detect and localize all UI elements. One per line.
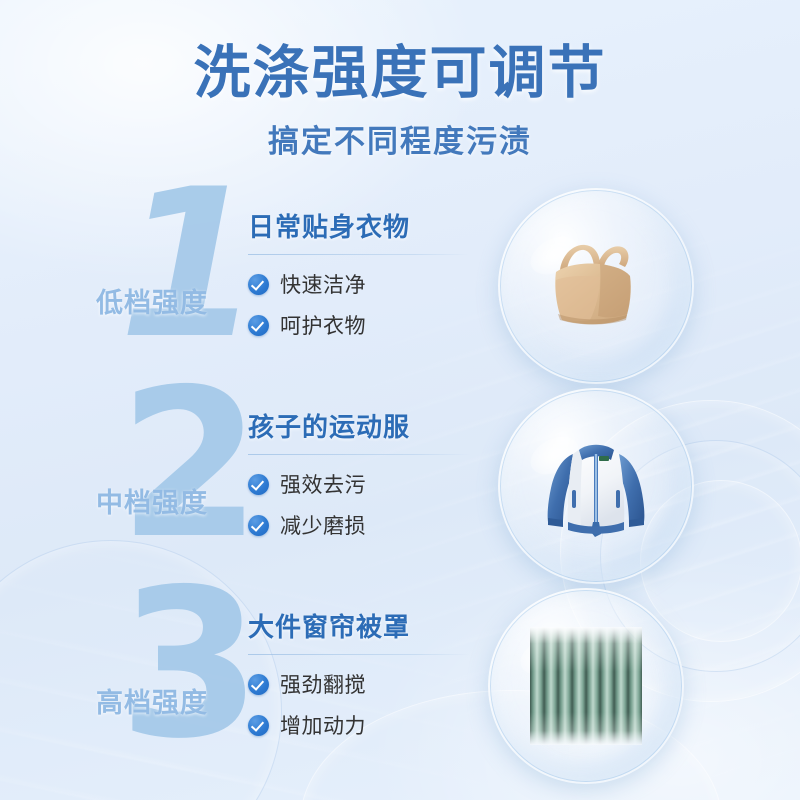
level-category-title-3: 大件窗帘被罩 [248,607,473,644]
feature-label: 减少磨损 [280,510,366,540]
product-bubble-1 [498,188,694,384]
check-circle-icon [248,274,269,295]
curtain-image [530,627,642,745]
level-text-column-1: 日常贴身衣物 快速洁净 呵护衣物 [248,207,473,351]
feature-item: 增加动力 [248,710,473,740]
level-grade-label-3: 高档强度 [96,681,248,720]
product-bubble-3 [488,588,684,784]
level-grade-label-2: 中档强度 [96,481,248,520]
feature-list-3: 强劲翻搅 增加动力 [248,669,473,740]
feature-item: 强劲翻搅 [248,669,473,699]
check-circle-icon [248,315,269,336]
feature-label: 增加动力 [280,710,366,740]
level-grade-label-1: 低档强度 [96,281,248,320]
feature-item: 减少磨损 [248,510,473,540]
page-title: 洗涤强度可调节 [0,44,800,104]
feature-item: 快速洁净 [248,269,473,299]
promo-poster: 洗涤强度可调节 搞定不同程度污渍 1 低档强度 日常贴身衣物 快速洁净 呵护衣物… [0,0,800,800]
check-circle-icon [248,474,269,495]
bubble-highlight [515,629,576,682]
feature-list-2: 强效去污 减少磨损 [248,469,473,540]
feature-label: 快速洁净 [280,269,366,299]
sports-bra-image [538,236,654,336]
divider-2 [248,454,470,455]
poster-header: 洗涤强度可调节 搞定不同程度污渍 [0,44,800,161]
product-bubble-2 [498,388,694,584]
divider-3 [248,654,470,655]
bubble-highlight [525,429,586,482]
divider-1 [248,254,470,255]
sports-jacket-image [535,430,657,542]
check-circle-icon [248,515,269,536]
feature-label: 呵护衣物 [280,310,366,340]
feature-label: 强劲翻搅 [280,669,366,699]
level-text-column-3: 大件窗帘被罩 强劲翻搅 增加动力 [248,607,473,751]
level-text-column-2: 孩子的运动服 强效去污 减少磨损 [248,407,473,551]
check-circle-icon [248,715,269,736]
bubble-highlight [525,229,586,282]
level-category-title-1: 日常贴身衣物 [248,207,473,244]
level-category-title-2: 孩子的运动服 [248,407,473,444]
feature-list-1: 快速洁净 呵护衣物 [248,269,473,340]
check-circle-icon [248,674,269,695]
feature-item: 呵护衣物 [248,310,473,340]
feature-label: 强效去污 [280,469,366,499]
curtain-sheen-overlay [530,627,642,745]
feature-item: 强效去污 [248,469,473,499]
